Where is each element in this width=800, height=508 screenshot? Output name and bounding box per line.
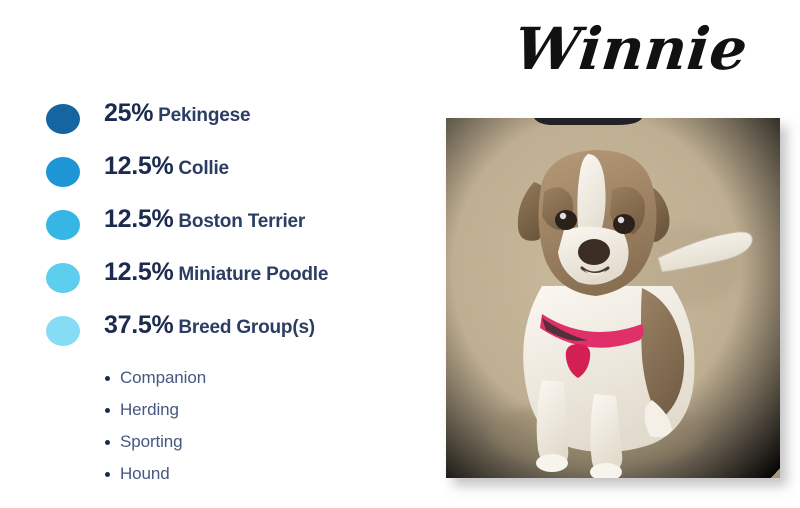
- breed-row: 12.5%Miniature Poodle: [0, 255, 440, 308]
- breed-row: 12.5%Boston Terrier: [0, 202, 440, 255]
- breed-group-list: Companion Herding Sporting Hound: [104, 362, 206, 490]
- breed-row-text: 12.5%Miniature Poodle: [104, 255, 328, 293]
- breed-row-line: 12.5%Miniature Poodle: [104, 267, 328, 284]
- legend-color-dot: [46, 157, 80, 187]
- legend-color-dot: [46, 210, 80, 240]
- breed-name: Miniature Poodle: [178, 264, 328, 285]
- breed-row-line: 25%Pekingese: [104, 108, 250, 125]
- breed-percent: 25%: [104, 99, 153, 127]
- breed-row: 25%Pekingese: [0, 96, 440, 149]
- breed-row-line: 12.5%Collie: [104, 161, 229, 178]
- breed-percent: 12.5%: [104, 152, 173, 180]
- breed-row-line: 37.5%Breed Group(s): [104, 320, 315, 337]
- breed-row: 12.5%Collie: [0, 149, 440, 202]
- breed-row-text: 37.5%Breed Group(s): [104, 308, 315, 346]
- list-item: Companion: [104, 362, 206, 394]
- page-title: Winnie: [512, 20, 748, 78]
- legend-color-dot: [46, 263, 80, 293]
- breed-name: Pekingese: [158, 105, 250, 126]
- legend-color-dot: [46, 316, 80, 346]
- breed-row-text: 12.5%Boston Terrier: [104, 202, 305, 240]
- breed-breakdown-legend: 25%Pekingese 12.5%Collie 12.5%Boston Ter…: [0, 96, 440, 361]
- breed-row: 37.5%Breed Group(s): [0, 308, 440, 361]
- breed-row-line: 12.5%Boston Terrier: [104, 214, 305, 231]
- list-item: Sporting: [104, 426, 206, 458]
- list-item: Hound: [104, 458, 206, 490]
- dog-photo-illustration: [446, 118, 780, 478]
- breed-row-text: 12.5%Collie: [104, 149, 229, 187]
- breed-row-text: 25%Pekingese: [104, 96, 250, 134]
- breed-name: Boston Terrier: [178, 211, 305, 232]
- breed-percent: 12.5%: [104, 258, 173, 286]
- list-item: Herding: [104, 394, 206, 426]
- dog-photo: [446, 118, 780, 478]
- breed-name: Collie: [178, 158, 229, 179]
- breed-percent: 12.5%: [104, 205, 173, 233]
- breed-name: Breed Group(s): [178, 317, 315, 338]
- breed-percent: 37.5%: [104, 311, 173, 339]
- legend-color-dot: [46, 104, 80, 134]
